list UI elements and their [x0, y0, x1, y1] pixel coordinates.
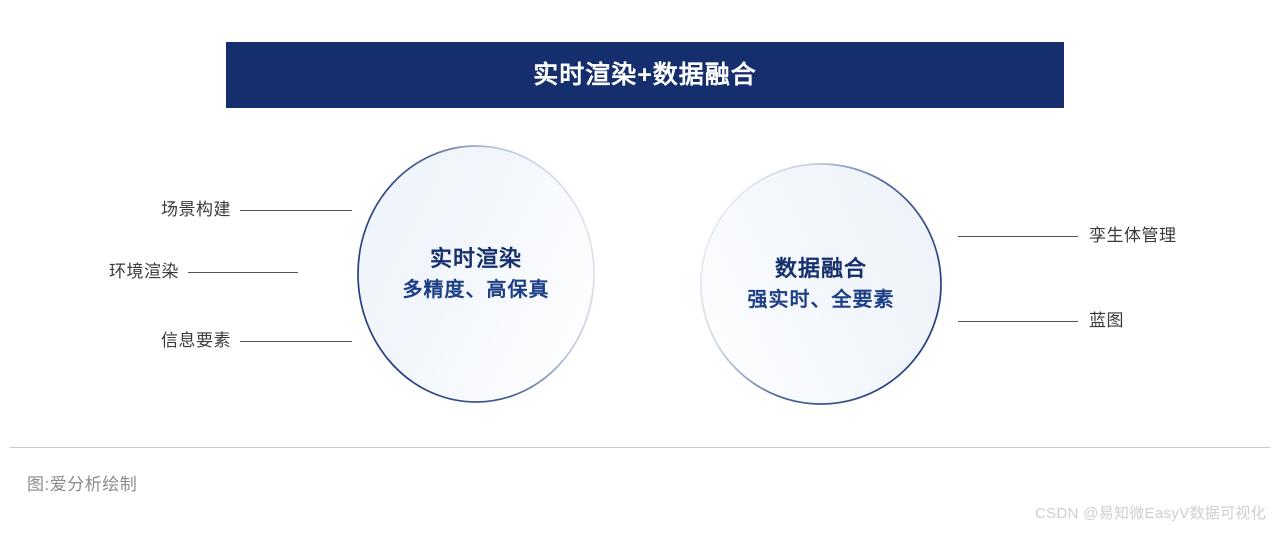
- circle-real-time-rendering: 实时渲染 多精度、高保真: [357, 145, 595, 403]
- label-environment-rendering: 环境渲染: [79, 263, 179, 280]
- circle-ring-left: [357, 145, 595, 403]
- circle-data-fusion: 数据融合 强实时、全要素: [700, 163, 942, 405]
- connector-left-3: [240, 341, 352, 342]
- connector-right-1: [958, 236, 1078, 237]
- circle-right-subtitle: 强实时、全要素: [748, 287, 895, 314]
- circle-right-title: 数据融合: [775, 254, 867, 284]
- circle-left-title: 实时渲染: [430, 244, 522, 274]
- footer-divider: [10, 447, 1270, 448]
- connector-left-2: [188, 272, 298, 273]
- circle-ring-right: [700, 163, 942, 405]
- label-blueprint: 蓝图: [1089, 312, 1124, 329]
- label-scene-construction: 场景构建: [137, 201, 231, 218]
- circle-left-subtitle: 多精度、高保真: [403, 277, 550, 304]
- title-banner: 实时渲染+数据融合: [226, 42, 1064, 108]
- connector-left-1: [240, 210, 352, 211]
- source-note: 图:爱分析绘制: [27, 476, 137, 493]
- connector-right-2: [958, 321, 1078, 322]
- label-information-elements: 信息要素: [137, 332, 231, 349]
- title-banner-text: 实时渲染+数据融合: [533, 63, 757, 88]
- watermark: CSDN @易知微EasyV数据可视化: [1035, 506, 1266, 521]
- label-twin-management: 孪生体管理: [1089, 227, 1177, 244]
